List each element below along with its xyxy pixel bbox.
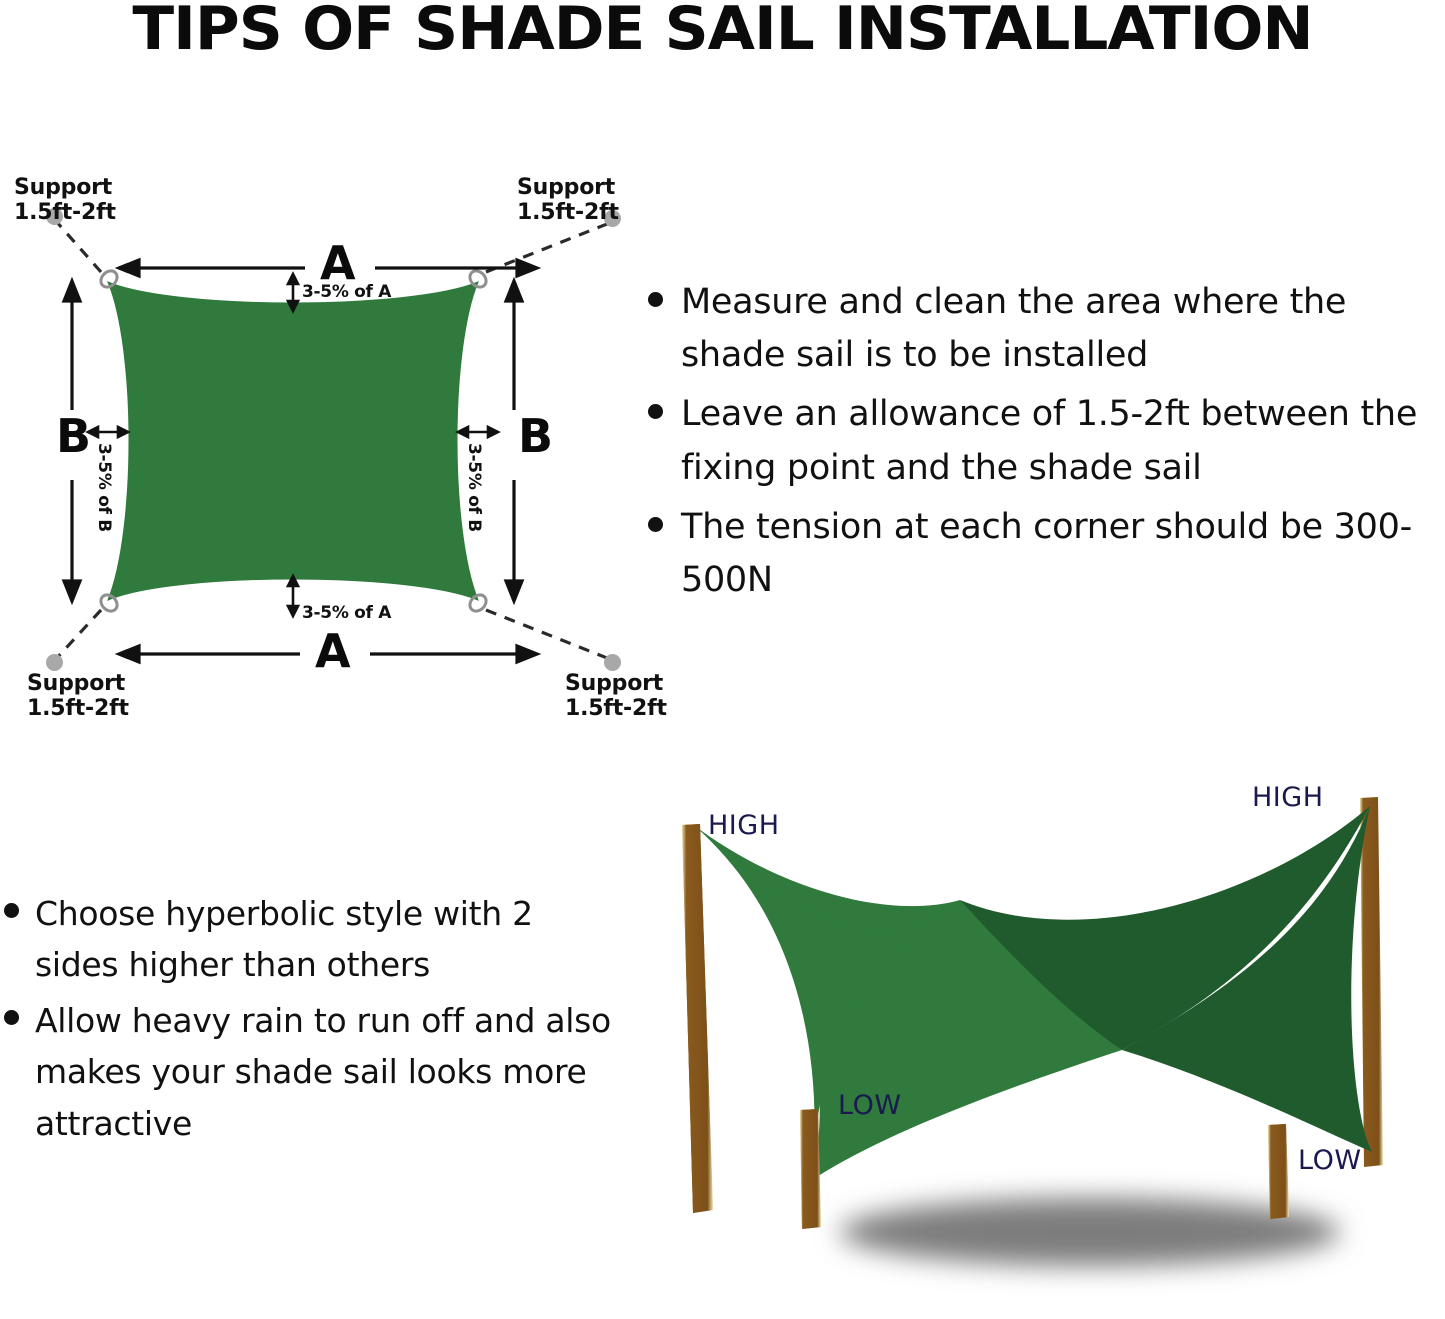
support-label-line1: Support: [27, 672, 129, 697]
dimension-letter-b-right: B: [518, 413, 553, 459]
support-dot-bottom-left: [46, 654, 63, 671]
ground-shadow: [840, 1198, 1340, 1266]
post-low-left-front: [800, 1109, 821, 1229]
bullet-dot-icon: [648, 517, 663, 532]
support-label-line1: Support: [517, 176, 619, 201]
support-label-bottom-right: Support 1.5ft-2ft: [565, 672, 667, 721]
bullet-text: Allow heavy rain to run off and also mak…: [35, 995, 624, 1149]
curve-label-left: 3-5% of B: [94, 443, 114, 532]
bullet-dot-icon: [4, 1010, 19, 1025]
list-item: Leave an allowance of 1.5-2ft between th…: [648, 388, 1445, 494]
list-item: Measure and clean the area where the sha…: [648, 276, 1445, 382]
curve-indicator-top: [288, 274, 298, 311]
hyperbolic-sail-diagram: HIGH HIGH LOW LOW: [660, 780, 1445, 1319]
rectangular-sail-diagram: Support 1.5ft-2ft Support 1.5ft-2ft Supp…: [0, 160, 650, 730]
support-label-line1: Support: [565, 672, 667, 697]
dimension-letter-a-top: A: [320, 240, 356, 286]
bullet-text: Choose hyperbolic style with 2 sides hig…: [35, 888, 624, 991]
support-label-line1: Support: [14, 176, 116, 201]
post-low-right-front: [1268, 1124, 1289, 1219]
support-label-line2: 1.5ft-2ft: [14, 201, 116, 226]
curve-indicator-right: [458, 427, 498, 437]
support-label-line2: 1.5ft-2ft: [27, 697, 129, 722]
label-high-left: HIGH: [708, 810, 780, 841]
installation-tips-list-top: Measure and clean the area where the sha…: [648, 276, 1445, 613]
support-label-line2: 1.5ft-2ft: [565, 697, 667, 722]
label-low-right: LOW: [1298, 1145, 1362, 1176]
installation-tips-list-bottom: Choose hyperbolic style with 2 sides hig…: [4, 888, 624, 1153]
support-dot-bottom-right: [604, 654, 621, 671]
support-label-line2: 1.5ft-2ft: [517, 201, 619, 226]
list-item: The tension at each corner should be 300…: [648, 501, 1445, 607]
bullet-text: The tension at each corner should be 300…: [681, 501, 1445, 607]
support-label-top-left: Support 1.5ft-2ft: [14, 176, 116, 225]
shade-sail-shape: [108, 282, 478, 600]
bullet-text: Leave an allowance of 1.5-2ft between th…: [681, 388, 1445, 494]
curve-label-top: 3-5% of A: [302, 282, 391, 302]
curve-label-bottom: 3-5% of A: [302, 603, 391, 623]
list-item: Allow heavy rain to run off and also mak…: [4, 995, 624, 1149]
bullet-dot-icon: [648, 292, 663, 307]
post-high-right: [1360, 797, 1383, 1167]
label-high-right: HIGH: [1252, 782, 1324, 813]
curve-indicator-left: [88, 427, 128, 437]
curve-label-right: 3-5% of B: [464, 443, 484, 532]
page-title: TIPS OF SHADE SAIL INSTALLATION: [0, 0, 1445, 64]
bullet-dot-icon: [4, 903, 19, 918]
bullet-text: Measure and clean the area where the sha…: [681, 276, 1445, 382]
support-label-top-right: Support 1.5ft-2ft: [517, 176, 619, 225]
curve-indicator-bottom: [288, 576, 298, 616]
support-label-bottom-left: Support 1.5ft-2ft: [27, 672, 129, 721]
post-high-left-front: [682, 824, 713, 1213]
label-low-left: LOW: [838, 1090, 902, 1121]
bullet-dot-icon: [648, 404, 663, 419]
dimension-letter-b-left: B: [56, 413, 91, 459]
list-item: Choose hyperbolic style with 2 sides hig…: [4, 888, 624, 991]
dimension-letter-a-bottom: A: [315, 628, 351, 674]
hyperbolic-sail-svg: [660, 780, 1445, 1319]
